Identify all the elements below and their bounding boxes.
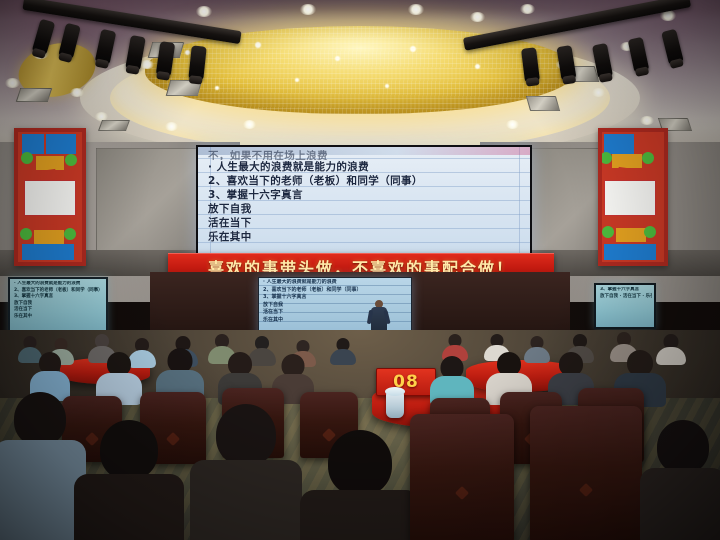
monitor-line: 乐在其中 xyxy=(14,314,104,321)
person-head xyxy=(216,404,276,466)
audience-member xyxy=(330,338,356,364)
left-side-monitor: · 人生最大的浪费就是能力的浪费 2、喜欢当下的老师（老板）和同学（同事） 3、… xyxy=(8,277,108,337)
person-head xyxy=(328,430,392,496)
ceiling-vent xyxy=(16,88,53,102)
downlight xyxy=(470,12,485,22)
main-projection-screen: 不，如果不用在场上浪费 · 人生最大的浪费就是能力的浪费 2、喜欢当下的老师（老… xyxy=(196,145,532,259)
downlight xyxy=(408,4,424,15)
slide-line: 活在当下 xyxy=(208,216,524,230)
downlight xyxy=(196,6,212,17)
audience-member xyxy=(190,404,302,540)
stage-slide-line: 2、喜欢当下的老师（老板）和同学（同事） xyxy=(263,287,409,295)
downlight xyxy=(640,116,654,125)
downlight xyxy=(300,4,316,15)
person-head xyxy=(14,392,66,446)
right-side-monitor: 3、掌握十六字真言 放下自我 · 活在当下 · 乐在其中 xyxy=(594,283,656,329)
downlight xyxy=(5,78,20,88)
slide-line: 放下自我 xyxy=(208,202,524,216)
slide-line: 乐在其中 xyxy=(208,230,524,244)
person-head xyxy=(657,420,709,474)
downlight xyxy=(592,88,605,97)
right-monitor-text: 3、掌握十六字真言 放下自我 · 活在当下 · 乐在其中 xyxy=(600,287,652,300)
person-head xyxy=(100,420,158,480)
monitor-line: 放下自我 · 活在当下 · 乐在其中 xyxy=(600,294,652,301)
left-monitor-text: · 人生最大的浪费就是能力的浪费 2、喜欢当下的老师（老板）和同学（同事） 3、… xyxy=(14,281,104,320)
downlight xyxy=(70,88,84,97)
slide-line: 不，如果不用在场上浪费 xyxy=(208,149,524,160)
slide-line: 3、掌握十六字真言 xyxy=(208,188,524,202)
slide-text-block: 不，如果不用在场上浪费 · 人生最大的浪费就是能力的浪费 2、喜欢当下的老师（老… xyxy=(208,149,524,244)
ceiling-vent xyxy=(98,120,130,131)
audience-member xyxy=(96,352,142,402)
ceiling-vent xyxy=(526,96,560,111)
downlight xyxy=(506,120,519,129)
slide-line: · 人生最大的浪费就是能力的浪费 xyxy=(208,160,524,174)
conference-hall-photo: 不，如果不用在场上浪费 · 人生最大的浪费就是能力的浪费 2、喜欢当下的老师（老… xyxy=(0,0,720,540)
drink-cup xyxy=(386,392,404,418)
audience-member xyxy=(74,420,184,540)
stage-slide-line: · 人生最大的浪费就是能力的浪费 xyxy=(263,279,409,287)
audience-member xyxy=(430,356,474,404)
slide-line: 2、喜欢当下的老师（老板）和同学（同事） xyxy=(208,174,524,188)
audience-chair xyxy=(410,414,514,540)
downlight xyxy=(140,60,154,69)
person-body xyxy=(300,490,420,540)
audience-member xyxy=(300,430,420,540)
downlight xyxy=(243,120,256,129)
stained-glass-window-right xyxy=(598,128,668,266)
person-body xyxy=(640,468,720,540)
ceiling xyxy=(0,0,720,148)
audience-chair xyxy=(530,406,642,540)
person-body xyxy=(330,349,356,365)
downlight xyxy=(520,4,535,14)
stained-glass-window-left xyxy=(14,128,86,266)
person-body xyxy=(190,460,302,540)
audience-member xyxy=(640,420,720,540)
person-body xyxy=(74,474,184,540)
downlight xyxy=(165,122,178,131)
